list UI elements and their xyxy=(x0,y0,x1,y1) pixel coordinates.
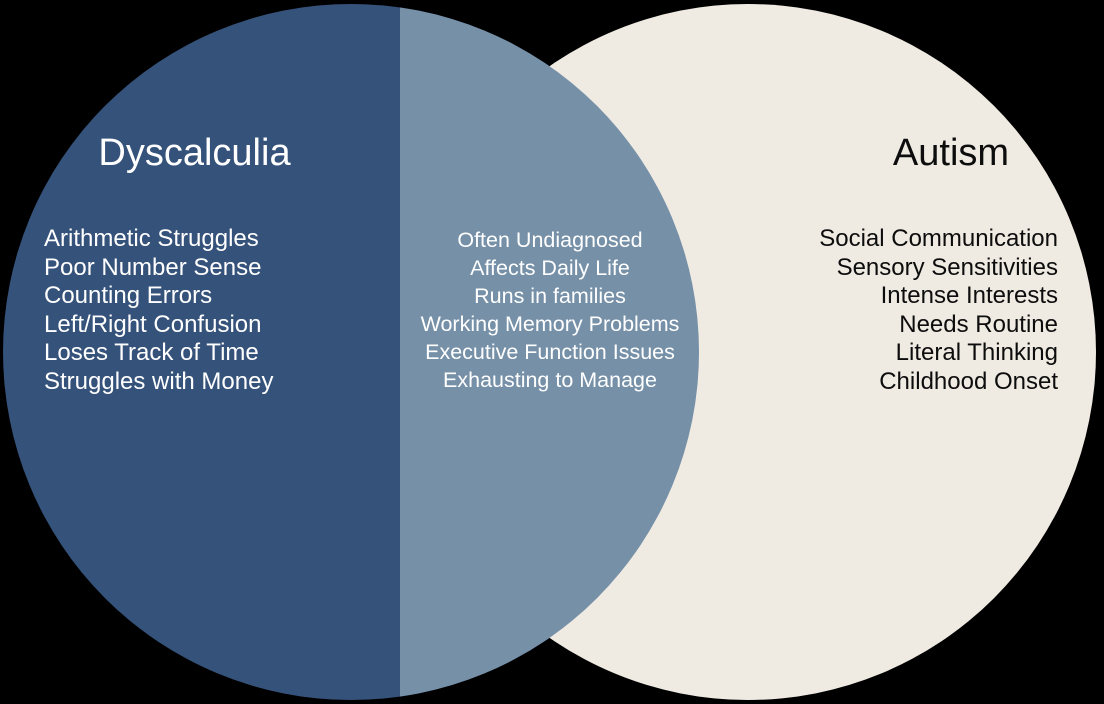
venn-title-autism: Autism xyxy=(760,134,1104,172)
list-item: Exhausting to Manage xyxy=(396,366,704,394)
list-item: Childhood Onset xyxy=(718,368,1058,397)
venn-text-layer: Dyscalculia Autism Arithmetic Struggles … xyxy=(0,0,1104,704)
list-item: Executive Function Issues xyxy=(396,338,704,366)
list-item: Literal Thinking xyxy=(718,339,1058,368)
list-item: Loses Track of Time xyxy=(44,339,273,368)
venn-list-dyscalculia: Arithmetic Struggles Poor Number Sense C… xyxy=(44,225,273,396)
list-item: Intense Interests xyxy=(718,282,1058,311)
list-item: Counting Errors xyxy=(44,282,273,311)
venn-list-shared: Often Undiagnosed Affects Daily Life Run… xyxy=(396,226,704,394)
list-item: Often Undiagnosed xyxy=(396,226,704,254)
list-item: Affects Daily Life xyxy=(396,254,704,282)
list-item: Working Memory Problems xyxy=(396,310,704,338)
list-item: Sensory Sensitivities xyxy=(718,254,1058,283)
list-item: Poor Number Sense xyxy=(44,254,273,283)
venn-diagram: Dyscalculia Autism Arithmetic Struggles … xyxy=(0,0,1104,704)
venn-title-dyscalculia: Dyscalculia xyxy=(0,134,389,172)
list-item: Left/Right Confusion xyxy=(44,311,273,340)
list-item: Arithmetic Struggles xyxy=(44,225,273,254)
list-item: Runs in families xyxy=(396,282,704,310)
venn-list-autism: Social Communication Sensory Sensitiviti… xyxy=(718,225,1058,396)
list-item: Struggles with Money xyxy=(44,368,273,397)
list-item: Needs Routine xyxy=(718,311,1058,340)
list-item: Social Communication xyxy=(718,225,1058,254)
